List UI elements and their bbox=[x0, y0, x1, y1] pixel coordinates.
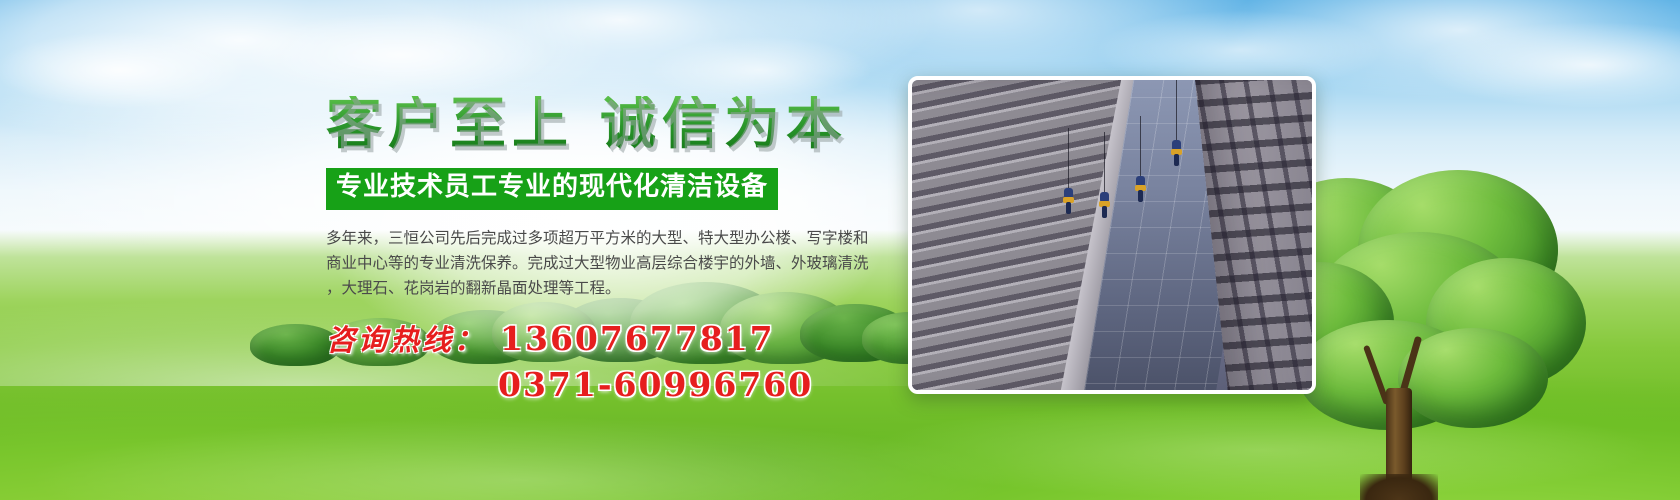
building-photo-image bbox=[912, 80, 1312, 390]
banner-copy: 客户至上诚信为本 专业技术员工专业的现代化清洁设备 多年来，三恒公司先后完成过多… bbox=[326, 96, 896, 404]
rope-access-worker bbox=[1172, 140, 1181, 166]
description-line-2: 商业中心等的专业清洗保养。完成过大型物业高层综合楼宇的外墙、外玻璃清洗 bbox=[326, 251, 886, 276]
hotline-landline-number[interactable]: 0371-60996760 bbox=[498, 365, 813, 404]
headline-part-2: 诚信为本 bbox=[600, 91, 848, 157]
hotline-row-secondary: 0371-60996760 bbox=[326, 365, 896, 404]
description-line-1: 多年来，三恒公司先后完成过多项超万平方米的大型、特大型办公楼、写字楼和 bbox=[326, 226, 886, 251]
hotline-mobile-number[interactable]: 13607677817 bbox=[500, 319, 775, 358]
subtitle-bar: 专业技术员工专业的现代化清洁设备 bbox=[326, 168, 778, 210]
tree-trunk bbox=[1386, 388, 1412, 500]
building-photo bbox=[908, 76, 1316, 394]
headline-part-1: 客户至上 bbox=[326, 91, 574, 157]
hero-banner: 客户至上诚信为本 专业技术员工专业的现代化清洁设备 多年来，三恒公司先后完成过多… bbox=[0, 0, 1680, 500]
description-line-3: ，大理石、花岗岩的翻新晶面处理等工程。 bbox=[326, 276, 886, 301]
description-paragraph: 多年来，三恒公司先后完成过多项超万平方米的大型、特大型办公楼、写字楼和 商业中心… bbox=[326, 226, 886, 301]
rope-access-worker bbox=[1100, 192, 1109, 218]
hotline-label: 咨询热线： bbox=[326, 317, 486, 359]
hotline-row-primary: 咨询热线： 13607677817 bbox=[326, 317, 896, 359]
rope-access-worker bbox=[1064, 188, 1073, 214]
page-title: 客户至上诚信为本 bbox=[326, 96, 896, 152]
rope-access-worker bbox=[1136, 176, 1145, 202]
